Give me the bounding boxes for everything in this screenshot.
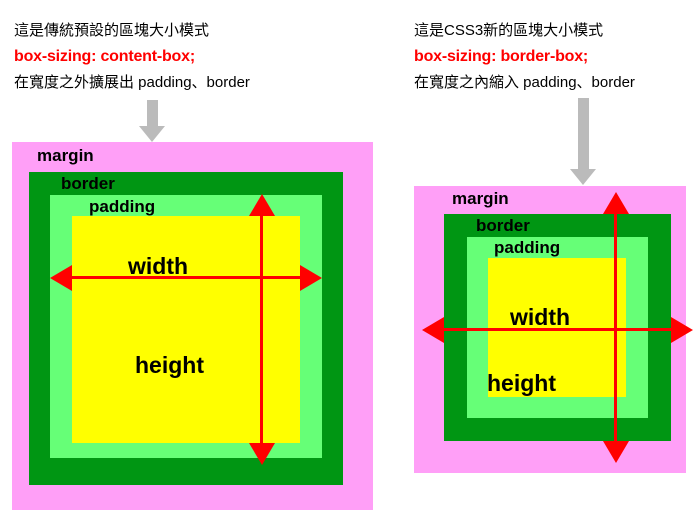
- arrowhead-up: [603, 192, 629, 214]
- border-label-left: border: [61, 174, 115, 193]
- caption-content-box: 這是傳統預設的區塊大小模式 box-sizing: content-box; 在…: [14, 18, 250, 96]
- padding-label-right: padding: [494, 238, 560, 257]
- arrowhead-down: [249, 443, 275, 465]
- caption-border-box: 這是CSS3新的區塊大小模式 box-sizing: border-box; 在…: [414, 18, 635, 96]
- arrowhead-left: [422, 317, 444, 343]
- arrowhead-right: [300, 265, 322, 291]
- caption-line-1: 這是CSS3新的區塊大小模式: [414, 18, 635, 44]
- arrowhead-right: [671, 317, 693, 343]
- width-label-left: width: [128, 254, 188, 279]
- arrowhead-up: [249, 194, 275, 216]
- padding-label-left: padding: [89, 197, 155, 216]
- border-label-right: border: [476, 216, 530, 235]
- arrowhead-down: [603, 441, 629, 463]
- caption-line-3: 在寬度之外擴展出 padding、border: [14, 70, 250, 96]
- height-label-left: height: [135, 353, 204, 378]
- content-layer-left: [72, 216, 300, 443]
- caption-code-declaration: box-sizing: content-box;: [14, 44, 250, 70]
- caption-line-3: 在寬度之內縮入 padding、border: [414, 70, 635, 96]
- caption-code-declaration: box-sizing: border-box;: [414, 44, 635, 70]
- height-label-right: height: [487, 371, 556, 396]
- caption-line-1: 這是傳統預設的區塊大小模式: [14, 18, 250, 44]
- arrowhead-left: [50, 265, 72, 291]
- width-label-right: width: [510, 305, 570, 330]
- margin-label-right: margin: [452, 189, 509, 208]
- box-model-border-box: margin border padding width height: [414, 186, 686, 473]
- box-model-content-box: margin border padding width height: [12, 142, 373, 510]
- margin-label-left: margin: [37, 146, 94, 165]
